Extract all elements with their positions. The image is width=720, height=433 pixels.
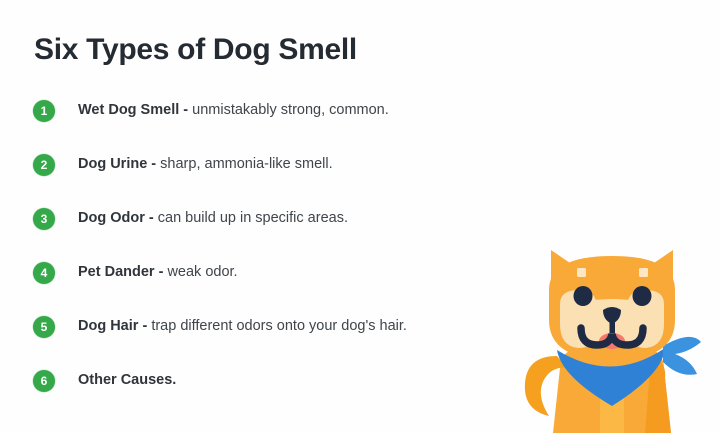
dog-illustration: [505, 238, 720, 433]
list-item-text: Dog Urine - sharp, ammonia-like smell.: [78, 153, 333, 175]
list-item-label: Wet Dog Smell: [78, 102, 179, 118]
list-item-text: Wet Dog Smell - unmistakably strong, com…: [78, 99, 389, 121]
list-item-description: trap different odors onto your dog's hai…: [151, 318, 407, 334]
list-item-text: Dog Hair - trap different odors onto you…: [78, 315, 407, 337]
list-number-badge: 4: [33, 262, 55, 284]
list-item-text: Pet Dander - weak odor.: [78, 261, 238, 283]
list-number-badge: 2: [33, 154, 55, 176]
list-item-separator: -: [138, 318, 151, 334]
dog-smell-list: 1 Wet Dog Smell - unmistakably strong, c…: [33, 99, 553, 423]
list-item-label: Pet Dander: [78, 264, 155, 280]
list-number-badge: 6: [33, 370, 55, 392]
list-item-label: Other Causes.: [78, 372, 176, 388]
shiba-inu-icon: [505, 238, 720, 433]
list-item-description: can build up in specific areas.: [158, 210, 348, 226]
list-item-separator: -: [179, 102, 192, 118]
list-item-label: Dog Urine: [78, 156, 147, 172]
list-item: 2 Dog Urine - sharp, ammonia-like smell.: [33, 153, 553, 207]
list-item-text: Other Causes.: [78, 369, 176, 391]
list-item: 5 Dog Hair - trap different odors onto y…: [33, 315, 553, 369]
list-item-separator: -: [155, 264, 168, 280]
list-item-separator: -: [147, 156, 160, 172]
list-number-badge: 1: [33, 100, 55, 122]
list-item: 1 Wet Dog Smell - unmistakably strong, c…: [33, 99, 553, 153]
page-title: Six Types of Dog Smell: [34, 30, 357, 70]
list-item-label: Dog Odor: [78, 210, 145, 226]
infographic-canvas: Six Types of Dog Smell 1 Wet Dog Smell -…: [0, 0, 720, 433]
dog-head: [549, 256, 675, 360]
list-number-badge: 5: [33, 316, 55, 338]
list-item-label: Dog Hair: [78, 318, 138, 334]
list-item-text: Dog Odor - can build up in specific area…: [78, 207, 348, 229]
list-item-description: unmistakably strong, common.: [192, 102, 389, 118]
list-item: 3 Dog Odor - can build up in specific ar…: [33, 207, 553, 261]
list-item-description: sharp, ammonia-like smell.: [160, 156, 332, 172]
list-number-badge: 3: [33, 208, 55, 230]
list-item: 6 Other Causes.: [33, 369, 553, 423]
list-item: 4 Pet Dander - weak odor.: [33, 261, 553, 315]
list-item-separator: -: [145, 210, 158, 226]
list-item-description: weak odor.: [167, 264, 237, 280]
